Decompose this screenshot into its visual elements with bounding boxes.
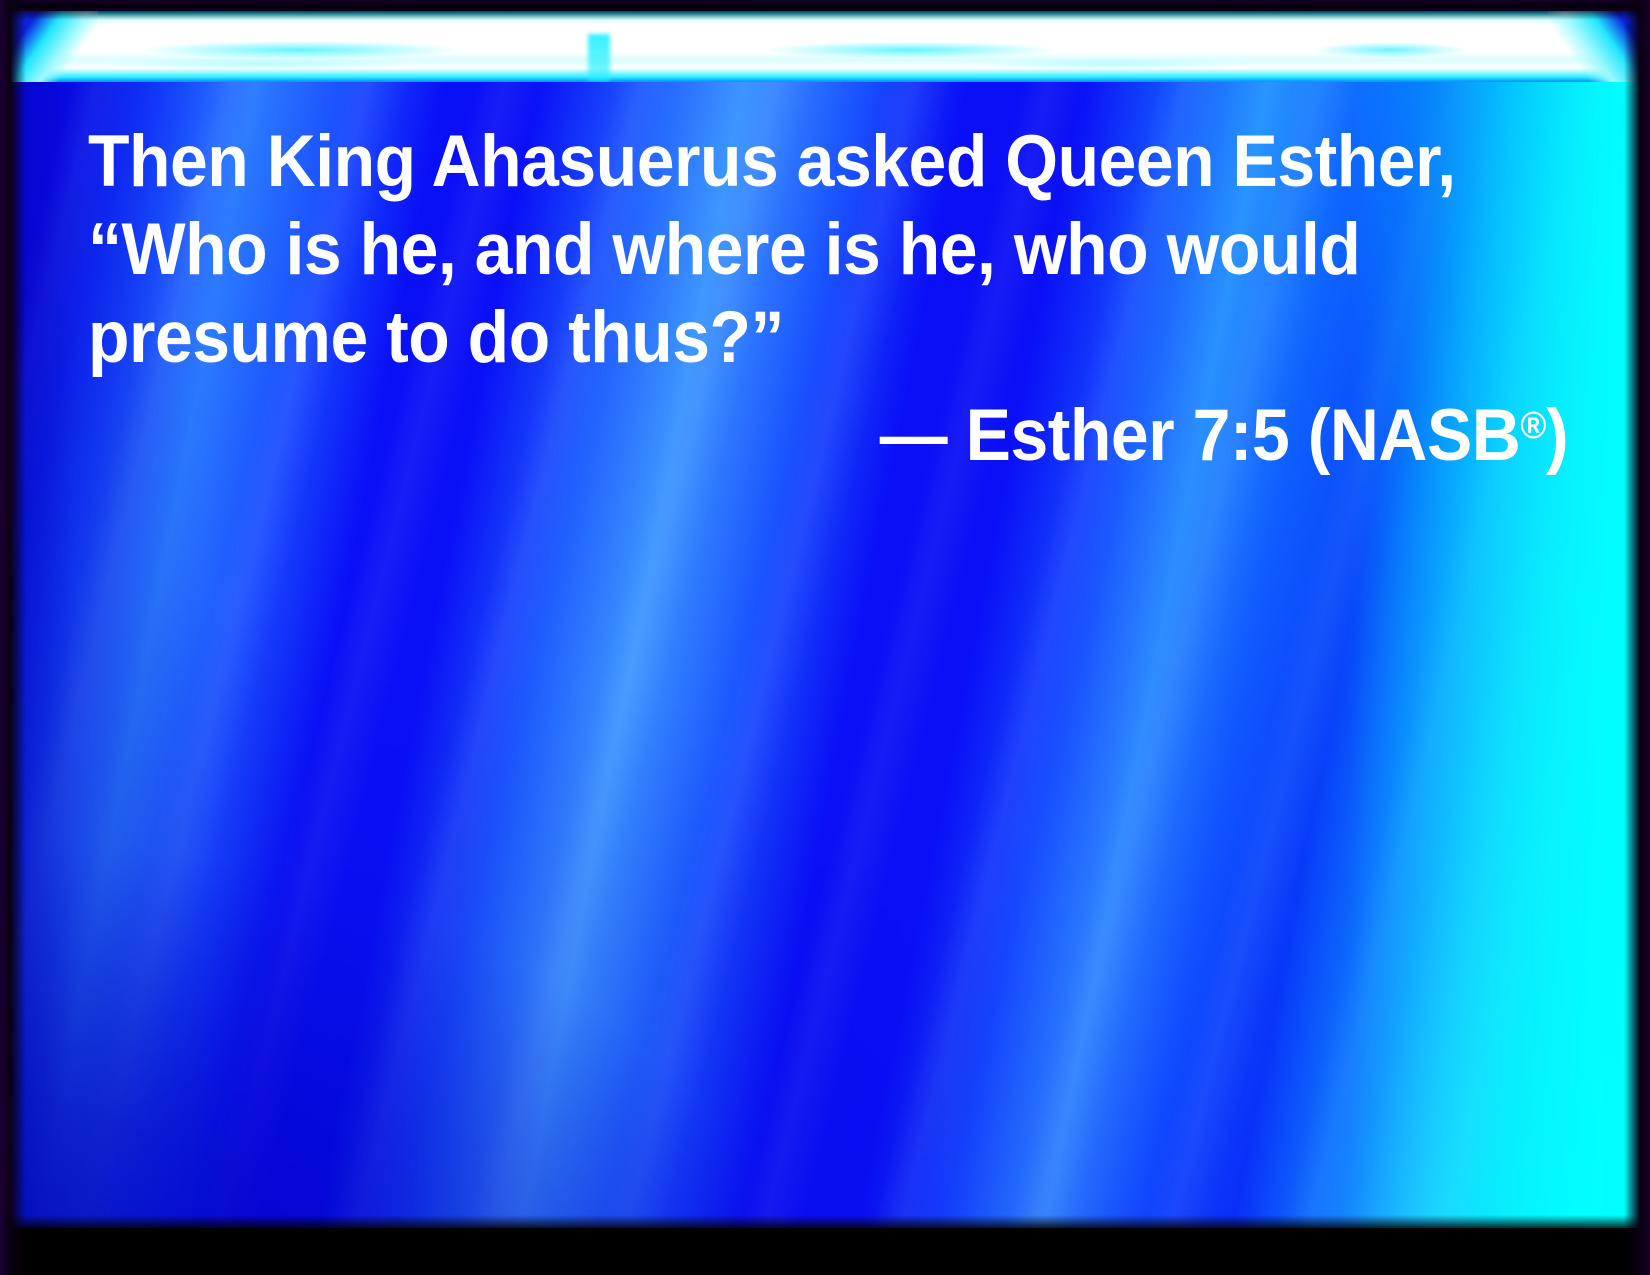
attribution-open-paren: (	[1308, 395, 1330, 476]
registered-trademark-icon: ®	[1520, 405, 1546, 447]
top-band-edge-line	[10, 8, 1644, 11]
verse-attribution: — Esther 7:5 (NASB®)	[88, 382, 1568, 480]
verse-line-2: “Who is he, and where is he, who would	[88, 206, 1464, 294]
top-bevel-band	[10, 8, 1644, 82]
attribution-text: — Esther 7:5 (NASB®)	[880, 382, 1568, 480]
top-band-right-corner	[1548, 8, 1644, 82]
attribution-translation: NASB	[1330, 395, 1521, 476]
top-band-center-notch	[588, 34, 610, 82]
attribution-close-paren: )	[1546, 395, 1568, 476]
attribution-reference: 7:5	[1192, 395, 1289, 476]
verse-line-1: Then King Ahasuerus asked Queen Esther,	[88, 118, 1464, 206]
verse-line-3: presume to do thus?”	[88, 294, 1464, 382]
verse-text-block: Then King Ahasuerus asked Queen Esther, …	[88, 118, 1568, 382]
top-band-left-corner	[10, 8, 98, 82]
top-band-highlights	[10, 8, 1644, 82]
verse-slide: Then King Ahasuerus asked Queen Esther, …	[0, 0, 1650, 1275]
attribution-book: Esther	[966, 395, 1175, 476]
attribution-dash: —	[880, 395, 947, 476]
